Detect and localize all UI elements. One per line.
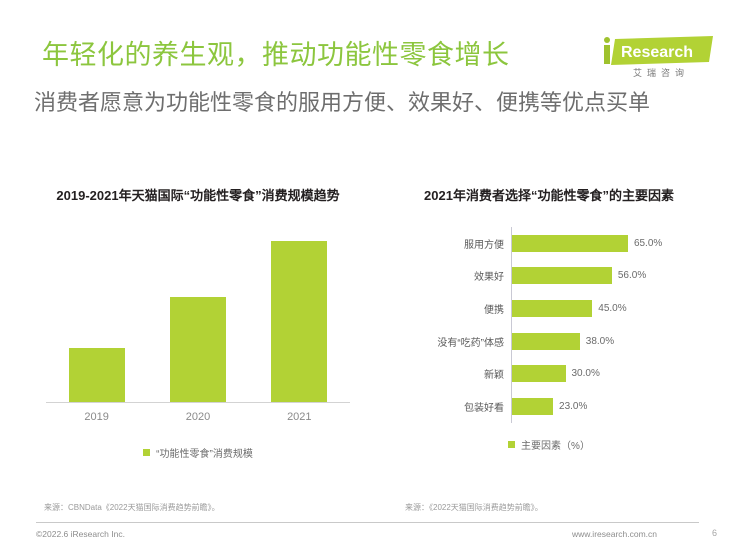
bar-row: 服用方便 65.0%	[399, 227, 699, 260]
x-axis-tick-label: 2021	[249, 411, 350, 423]
bar-fill[interactable]	[512, 365, 566, 382]
bar-fill[interactable]	[512, 333, 580, 350]
right-chart-legend: 主要因素（%）	[384, 437, 714, 452]
bar-value-label: 65.0%	[628, 238, 662, 249]
legend-swatch-icon	[508, 441, 515, 448]
bar-fill[interactable]	[512, 300, 592, 317]
page-subtitle: 消费者愿意为功能性零食的服用方便、效果好、便携等优点买单	[34, 88, 684, 118]
slide: 年轻化的养生观，推动功能性零食增长 消费者愿意为功能性零食的服用方便、效果好、便…	[0, 0, 735, 551]
bar-track: 65.0%	[511, 227, 699, 260]
bar-fill[interactable]	[512, 235, 628, 252]
bar-value-label: 30.0%	[566, 368, 600, 379]
bar-row: 包装好看 23.0%	[399, 390, 699, 423]
page-title: 年轻化的养生观，推动功能性零食增长	[42, 38, 510, 72]
bar-category-label: 服用方便	[399, 236, 511, 251]
legend-swatch-icon	[143, 449, 150, 456]
bar-track: 38.0%	[511, 325, 699, 358]
bar-category-label: 便携	[399, 301, 511, 316]
bar-category-label: 包装好看	[399, 399, 511, 414]
bar-category-label: 没有“吃药”体感	[399, 334, 511, 349]
footer-copyright: ©2022.6 iResearch Inc.	[36, 529, 125, 539]
column-chart-x-axis: 2019 2020 2021	[46, 403, 350, 431]
bar-category-label: 新颖	[399, 366, 511, 381]
page-number: 6	[712, 528, 717, 538]
horizontal-bar-chart: 服用方便 65.0% 效果好 56.0% 便携	[399, 227, 699, 423]
bar-track: 30.0%	[511, 357, 699, 390]
bar-track: 56.0%	[511, 260, 699, 293]
column-chart-plot	[46, 231, 350, 403]
bar-row: 新颖 30.0%	[399, 357, 699, 390]
bar-category-label: 效果好	[399, 268, 511, 283]
bar-value-label: 45.0%	[592, 303, 626, 314]
left-chart-legend: “功能性零食”消费规模	[22, 445, 374, 460]
logo-mark-icon: Research	[601, 36, 713, 66]
column-item	[249, 231, 350, 402]
charts-container: 2019-2021年天猫国际“功能性零食”消费规模趋势 2019 2020	[0, 160, 735, 515]
legend-label: 主要因素（%）	[521, 437, 590, 452]
bar-fill[interactable]	[512, 398, 553, 415]
left-chart-title: 2019-2021年天猫国际“功能性零食”消费规模趋势	[22, 160, 374, 205]
x-axis-tick-label: 2019	[46, 411, 147, 423]
bar-row: 没有“吃药”体感 38.0%	[399, 325, 699, 358]
svg-text:Research: Research	[621, 44, 693, 61]
column-bar[interactable]	[69, 348, 125, 402]
x-axis-tick-label: 2020	[147, 411, 248, 423]
footer-website: www.iresearch.com.cn	[572, 529, 657, 539]
left-chart-source: 来源：CBNData《2022天猫国际消费趋势前瞻》。	[44, 502, 220, 513]
legend-label: “功能性零食”消费规模	[156, 445, 253, 460]
bar-track: 23.0%	[511, 390, 699, 423]
bar-value-label: 38.0%	[580, 336, 614, 347]
logo-chinese-text: 艾瑞咨询	[609, 66, 713, 79]
column-bar[interactable]	[271, 241, 327, 402]
right-chart-panel: 2021年消费者选择“功能性零食”的主要因素 服用方便 65.0% 效果好 56…	[384, 160, 714, 515]
column-item	[46, 231, 147, 402]
footer-divider	[36, 522, 699, 523]
column-chart: 2019 2020 2021	[38, 231, 358, 431]
right-chart-source: 来源：《2022天猫国际消费趋势前瞻》。	[405, 502, 543, 513]
bar-track: 45.0%	[511, 292, 699, 325]
column-bar[interactable]	[170, 297, 226, 402]
iresearch-logo: Research 艾瑞咨询	[601, 36, 713, 82]
right-chart-title: 2021年消费者选择“功能性零食”的主要因素	[384, 160, 714, 205]
bar-value-label: 23.0%	[553, 401, 587, 412]
bar-row: 便携 45.0%	[399, 292, 699, 325]
bar-value-label: 56.0%	[612, 270, 646, 281]
slide-header: 年轻化的养生观，推动功能性零食增长 消费者愿意为功能性零食的服用方便、效果好、便…	[0, 0, 735, 152]
bar-fill[interactable]	[512, 267, 612, 284]
column-item	[147, 231, 248, 402]
left-chart-panel: 2019-2021年天猫国际“功能性零食”消费规模趋势 2019 2020	[22, 160, 374, 515]
bar-row: 效果好 56.0%	[399, 260, 699, 293]
